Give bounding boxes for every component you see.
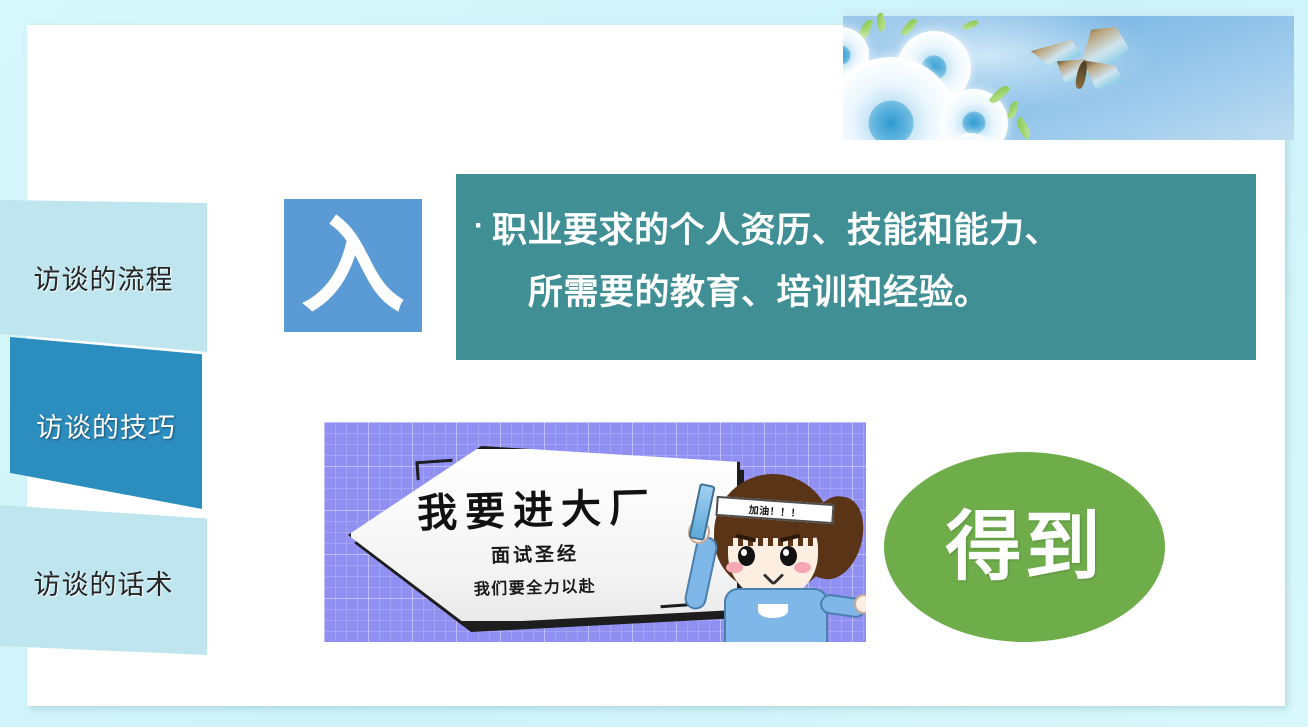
leaf-icon	[900, 16, 918, 37]
leaf-icon	[1007, 100, 1019, 119]
section-glyph-character: 入	[301, 214, 405, 318]
illustration-image: 我要进大厂 面试圣经 我们要全力以赴 加油！！！	[324, 422, 866, 642]
sidebar-item-label: 访谈的流程	[34, 258, 174, 297]
bullet-text: 职业要求的个人资历、技能和能力、 所需要的教育、培训和经验。	[492, 200, 1060, 324]
result-ellipse-badge: 得到	[884, 452, 1165, 642]
bullet-item: · 职业要求的个人资历、技能和能力、 所需要的教育、培训和经验。	[474, 200, 1236, 324]
sidebar-item-interview-skills[interactable]: 访谈的技巧	[10, 337, 202, 509]
banner-top-strip	[843, 9, 1294, 16]
decorative-banner-image	[843, 9, 1294, 140]
character-headband-text: 加油！！！	[748, 501, 801, 520]
sidebar-item-label: 访谈的技巧	[36, 406, 176, 445]
sidebar-item-interview-process[interactable]: 访谈的流程	[0, 200, 207, 352]
sidebar-item-label: 访谈的话术	[34, 563, 174, 602]
illustration-corner-bracket	[415, 459, 453, 481]
bullet-dot-icon: ·	[474, 200, 484, 252]
character-eye	[780, 546, 797, 566]
content-callout-box: · 职业要求的个人资历、技能和能力、 所需要的教育、培训和经验。	[456, 174, 1256, 360]
result-ellipse-text: 得到	[946, 509, 1104, 585]
illustration-subtitle-1: 面试圣经	[430, 537, 641, 569]
leaf-icon	[1014, 116, 1034, 139]
bullet-text-line-2: 所需要的教育、培训和经验。	[492, 262, 1060, 324]
bullet-text-line-1: 职业要求的个人资历、技能和能力、	[492, 211, 1060, 250]
pen-icon	[688, 483, 715, 541]
illustration-title: 我要进大厂	[381, 474, 692, 540]
section-glyph-badge: 入	[284, 199, 422, 332]
leaf-icon	[962, 18, 979, 32]
sidebar-item-interview-scripts[interactable]: 访谈的话术	[0, 505, 207, 655]
sidebar-tabs: 访谈的流程 访谈的技巧 访谈的话术	[0, 0, 230, 727]
butterfly-icon	[1029, 25, 1133, 99]
character-collar	[758, 604, 788, 618]
character-blush	[726, 562, 743, 573]
character-blush	[794, 562, 811, 573]
illustration-character: 加油！！！	[680, 470, 866, 642]
slide-canvas: 访谈的流程 访谈的技巧 访谈的话术 入 · 职业要求的个人资历、技能和能力、 所…	[0, 0, 1308, 727]
character-raised-arm	[683, 535, 720, 612]
